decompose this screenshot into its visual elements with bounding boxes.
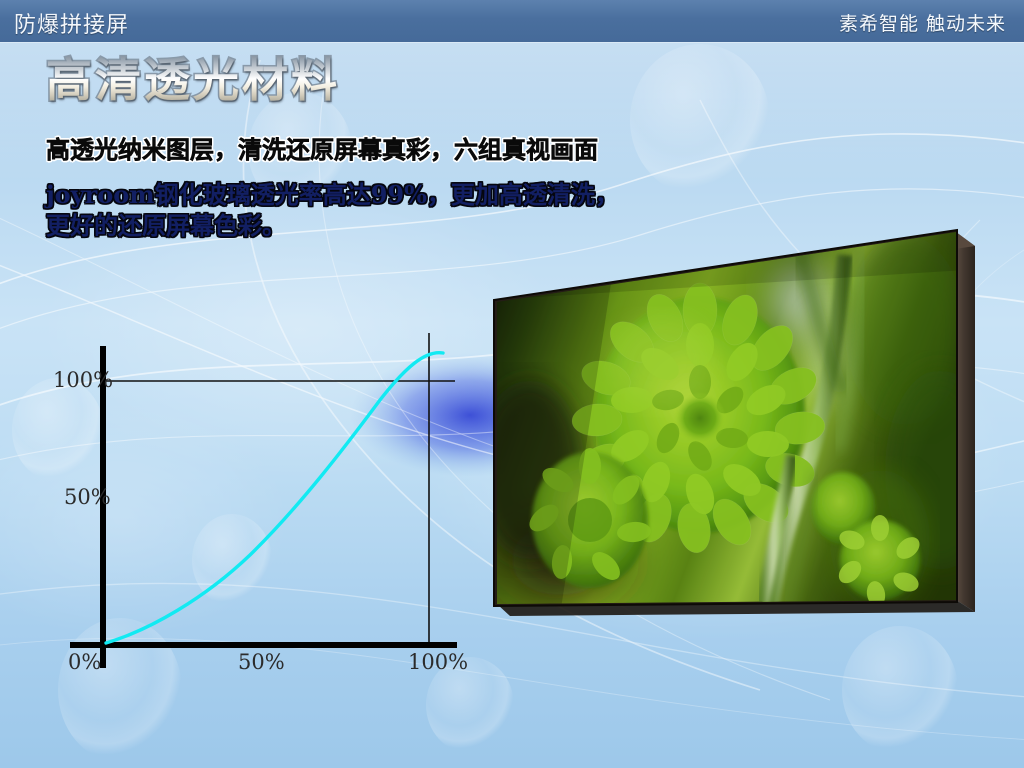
y-axis-tick-100: 100%	[53, 368, 113, 392]
body-copy: 高透光纳米图层，清洗还原屏幕真彩，六组真视画面 joyroom钢化玻璃透光率高达…	[46, 135, 619, 241]
x-axis-tick-100: 100%	[408, 650, 468, 674]
header-slogan: 素希智能 触动未来	[839, 9, 1006, 36]
slide-canvas: 防爆拼接屏 素希智能 触动未来 高清透光材料 高清透光材料 高透光纳米图层，清洗…	[0, 0, 1024, 768]
video-wall-display	[0, 0, 1024, 768]
header-bar: 防爆拼接屏 素希智能 触动未来	[0, 0, 1024, 42]
x-axis-tick-0: 0%	[68, 650, 101, 674]
y-axis-tick-50: 50%	[64, 485, 111, 509]
body-line-3: 更好的还原屏幕色彩。	[46, 210, 619, 241]
body-line-1: 高透光纳米图层，清洗还原屏幕真彩，六组真视画面	[46, 135, 619, 165]
body-line-2: joyroom钢化玻璃透光率高达99%，更加高透清洗，	[46, 179, 619, 210]
x-axis-tick-50: 50%	[238, 650, 285, 674]
page-title: 高清透光材料	[46, 52, 340, 108]
header-title: 防爆拼接屏	[14, 7, 129, 39]
